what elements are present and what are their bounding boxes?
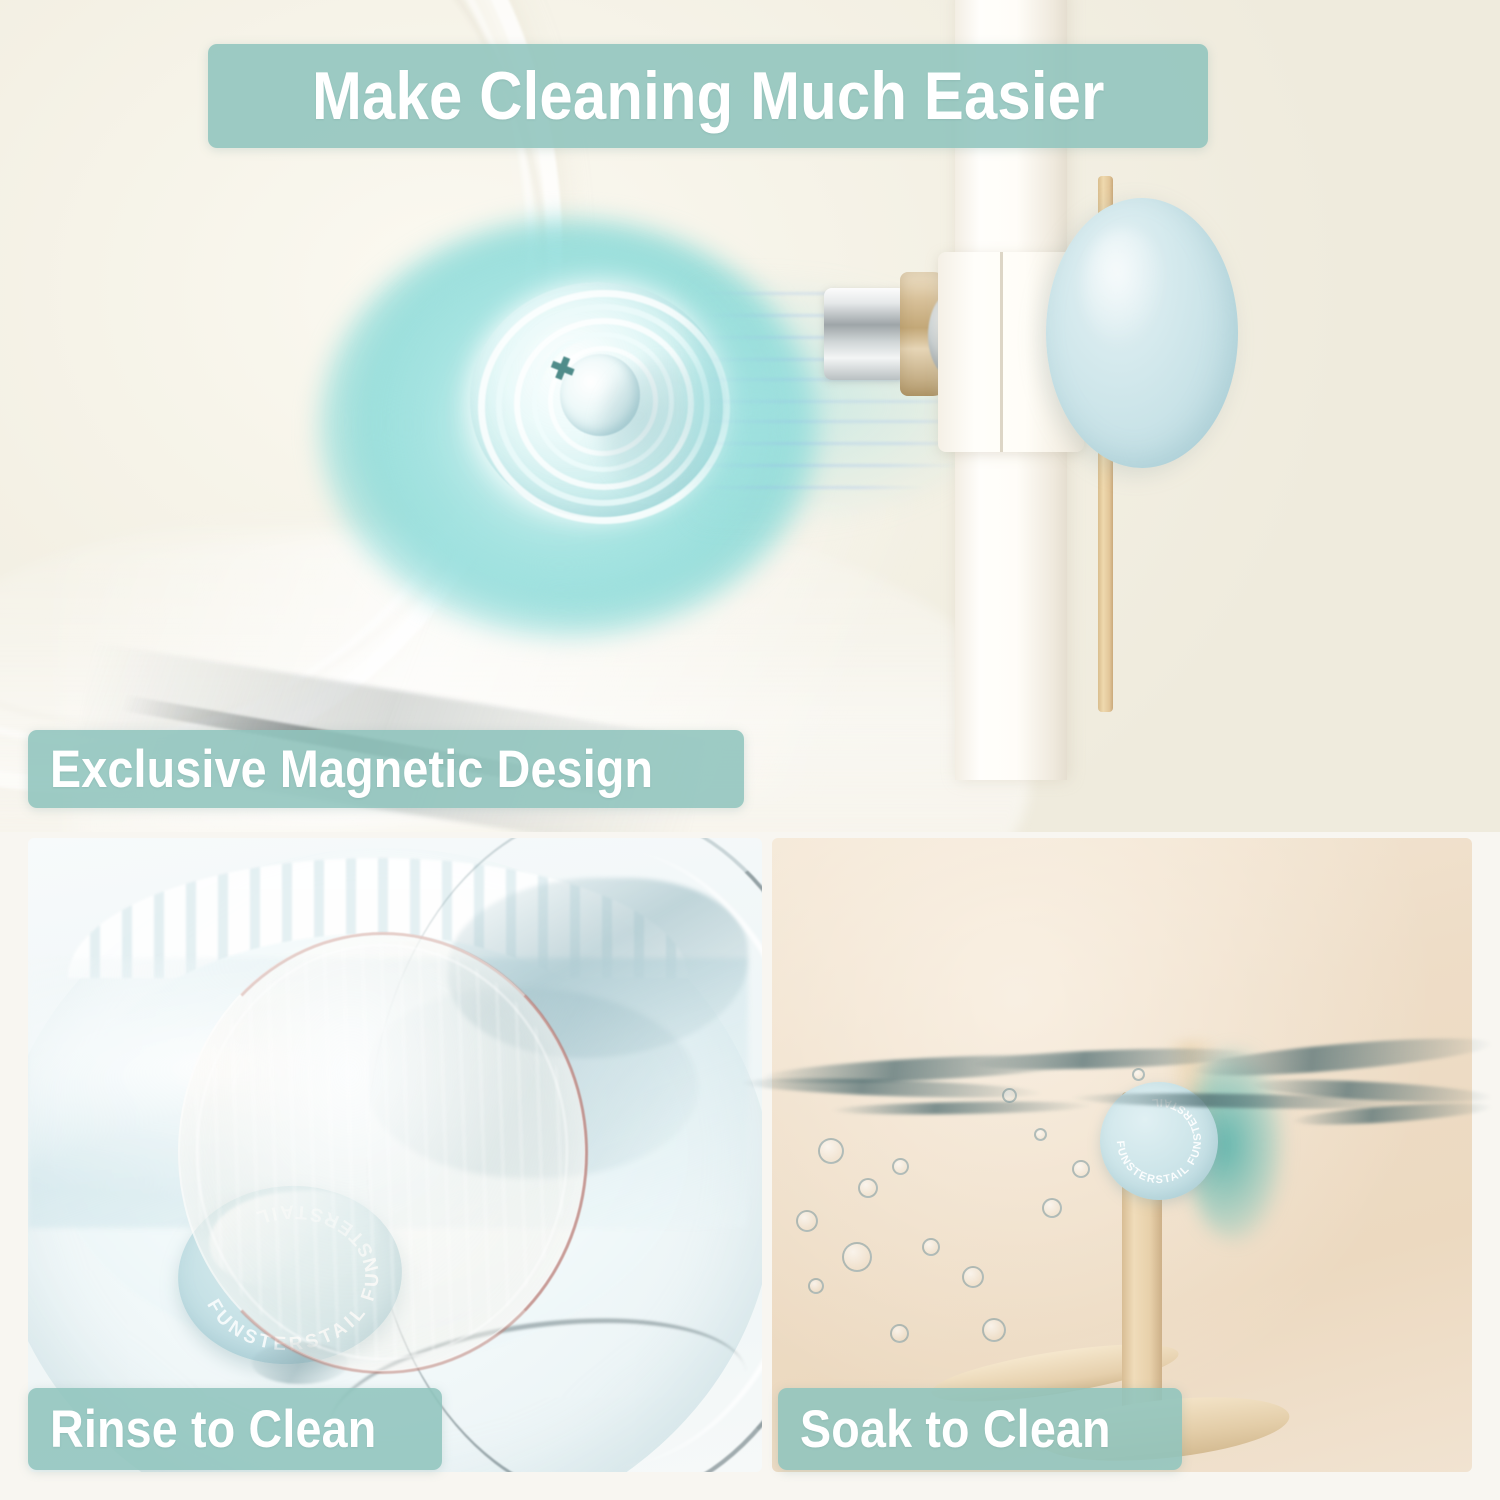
- water-bubble: [818, 1138, 844, 1164]
- banner-subtitle-text: Exclusive Magnetic Design: [50, 739, 653, 800]
- banner-title: Make Cleaning Much Easier: [208, 44, 1208, 148]
- chrome-connector: [824, 288, 912, 380]
- water-bubble: [892, 1158, 909, 1175]
- water-bubble: [922, 1238, 940, 1256]
- magnetic-field-line: [700, 464, 962, 467]
- magnetic-disc-highlight: [1082, 228, 1166, 348]
- soak-magnetic-disc: FUNSTERSTAIL FUNSTERSTAIL: [1100, 1082, 1218, 1200]
- water-bubble: [796, 1210, 818, 1232]
- soak-disc-brand-text: FUNSTERSTAIL FUNSTERSTAIL: [1100, 1082, 1218, 1200]
- water-bubble: [982, 1318, 1006, 1342]
- banner-title-text: Make Cleaning Much Easier: [312, 57, 1105, 135]
- water-bubble: [1132, 1068, 1145, 1081]
- water-bubble: [1002, 1088, 1017, 1103]
- banner-soak-text: Soak to Clean: [800, 1399, 1111, 1460]
- water-bubble: [1034, 1128, 1047, 1141]
- banner-subtitle: Exclusive Magnetic Design: [28, 730, 744, 808]
- water-bubble: [890, 1324, 909, 1343]
- water-bubble: [858, 1178, 878, 1198]
- svg-text:FUNSTERSTAIL FUNSTERSTAIL: FUNSTERSTAIL FUNSTERSTAIL: [1114, 1096, 1204, 1186]
- soak-bowl-rose-gold-rim: [178, 932, 588, 1374]
- banner-rinse-text: Rinse to Clean: [50, 1399, 376, 1460]
- water-bubble: [962, 1266, 984, 1288]
- banner-soak-to-clean: Soak to Clean: [778, 1388, 1182, 1470]
- banner-rinse-to-clean: Rinse to Clean: [28, 1388, 442, 1470]
- pump-collar-seam: [1000, 252, 1003, 452]
- water-bubble: [808, 1278, 824, 1294]
- water-bubble: [1042, 1198, 1062, 1218]
- water-bubble: [1072, 1160, 1090, 1178]
- magnetic-field-line: [700, 486, 926, 489]
- water-bubble: [842, 1242, 872, 1272]
- product-feature-image: ✚ Make Cleaning Much Easier Exclusive Ma…: [0, 0, 1500, 1500]
